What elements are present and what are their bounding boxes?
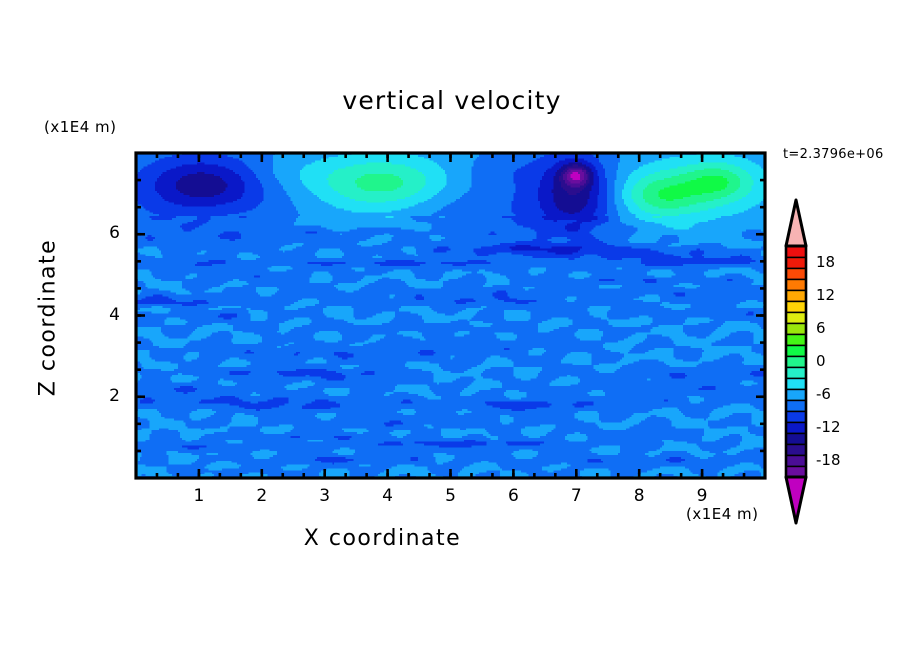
colorbar [786,200,806,523]
contour-field [136,153,766,479]
x-tick-label: 3 [305,486,345,506]
colorbar-tick-label: -6 [816,385,831,403]
colorbar-over-cap [786,200,806,246]
x-tick-label: 4 [368,486,408,506]
colorbar-tick-label: 6 [816,319,826,337]
colorbar-tick-label: 18 [816,253,835,271]
z-tick-label: 2 [88,386,120,406]
z-tick-label: 4 [88,305,120,325]
x-tick-label: 2 [242,486,282,506]
z-tick-label: 6 [88,223,120,243]
x-tick-label: 6 [493,486,533,506]
colorbar-tick-label: 12 [816,286,835,304]
x-tick-label: 1 [179,486,219,506]
x-tick-label: 5 [431,486,471,506]
figure-canvas: vertical velocity (x1E4 m) (x1E4 m) t=2.… [0,0,904,654]
colorbar-tick-label: -18 [816,451,841,469]
colorbar-under-cap [786,477,806,523]
x-tick-label: 9 [682,486,722,506]
colorbar-tick-label: 0 [816,352,826,370]
x-tick-label: 7 [556,486,596,506]
x-tick-label: 8 [619,486,659,506]
contour-plot [0,0,904,654]
colorbar-tick-label: -12 [816,418,841,436]
